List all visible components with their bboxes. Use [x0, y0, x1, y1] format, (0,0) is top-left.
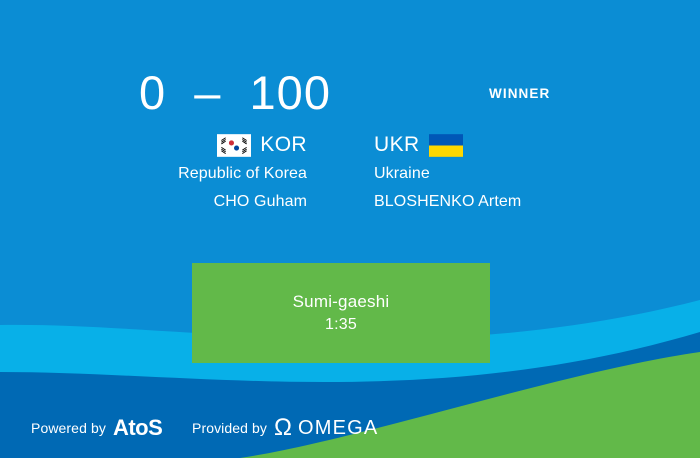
home-country-name: Republic of Korea	[47, 165, 307, 183]
flag-ukraine-icon	[429, 134, 463, 157]
away-athlete-name: BLOSHENKO Artem	[374, 191, 634, 212]
omega-prefix: Provided by	[192, 420, 267, 436]
atos-prefix: Powered by	[31, 420, 106, 436]
away-country-name: Ukraine	[374, 165, 634, 183]
footer-sponsors: Powered by AtoS Provided by Ω OMEGA	[0, 414, 700, 448]
competitor-away: UKR Ukraine BLOSHENKO Artem	[374, 132, 634, 212]
atos-logo: AtoS	[113, 417, 162, 439]
flag-south-korea-icon	[217, 134, 251, 157]
winning-technique-panel: Sumi-gaeshi 1:35	[192, 263, 490, 363]
away-noc-code: UKR	[374, 133, 420, 157]
sponsor-omega: Provided by Ω OMEGA	[192, 415, 378, 441]
omega-wordmark: OMEGA	[298, 417, 378, 439]
technique-name: Sumi-gaeshi	[293, 292, 390, 312]
sponsor-atos: Powered by AtoS	[31, 415, 162, 441]
winner-badge: WINNER	[489, 86, 550, 101]
omega-logo: Ω OMEGA	[274, 417, 378, 439]
score-value: 0 – 100	[0, 64, 470, 122]
judo-scoreboard: 0 – 100 WINNER	[0, 0, 700, 458]
competitor-home: KOR Republic of Korea CHO Guham	[47, 132, 307, 212]
omega-symbol-icon: Ω	[274, 417, 292, 439]
away-noc-row: UKR	[374, 132, 634, 158]
home-athlete-name: CHO Guham	[47, 191, 307, 212]
home-noc-code: KOR	[260, 133, 307, 157]
score-row: 0 – 100 WINNER	[0, 64, 700, 124]
technique-time: 1:35	[325, 316, 357, 334]
home-noc-row: KOR	[47, 132, 307, 158]
